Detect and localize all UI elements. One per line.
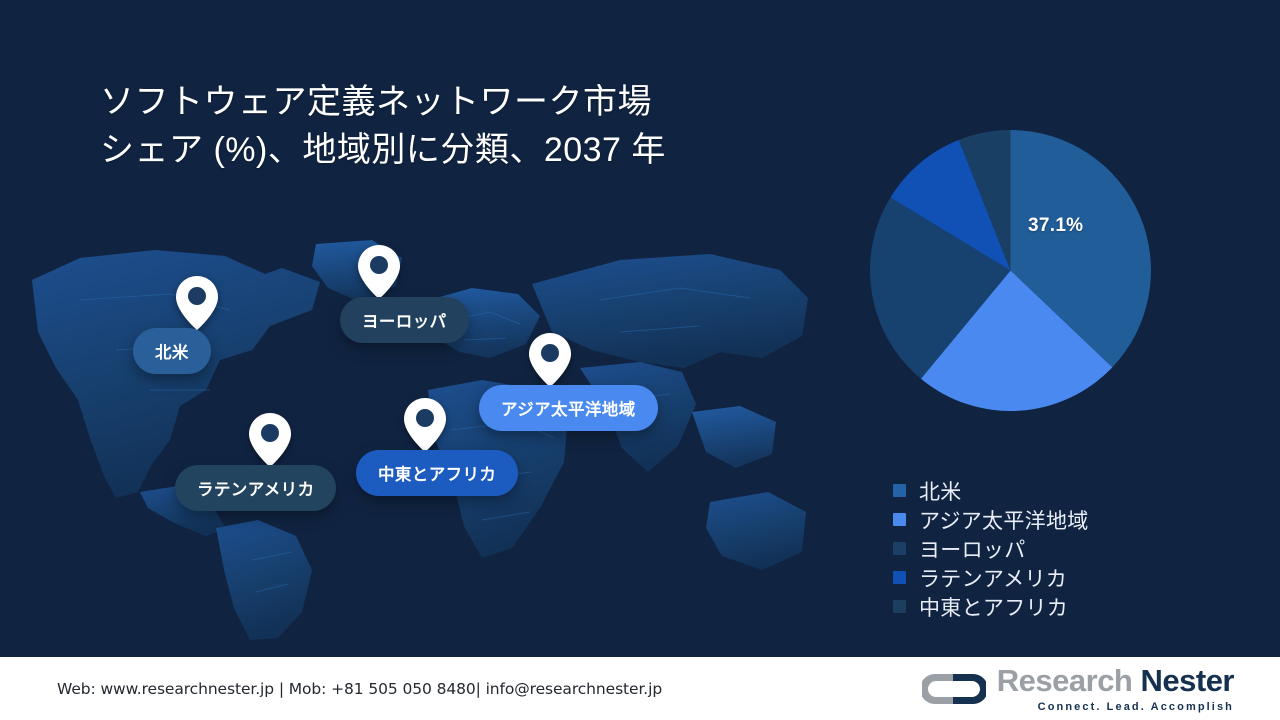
landmass-south-america (216, 520, 312, 640)
pie-chart: 37.1% (833, 93, 1188, 448)
landmass-southeast-asia (692, 406, 776, 468)
research-nester-logo: Research Nester Connect. Lead. Accomplis… (922, 665, 1234, 713)
legend-item-middle-east-africa[interactable]: 中東とアフリカ (893, 592, 1253, 621)
logo-word-nester: Nester (1141, 663, 1235, 698)
location-pin-icon (248, 412, 292, 468)
logo-wordmark: Research Nester (997, 665, 1234, 696)
legend-item-europe[interactable]: ヨーロッパ (893, 534, 1253, 563)
legend-swatch-icon (893, 513, 906, 526)
footer-contact-text: Web: www.researchnester.jp | Mob: +81 50… (57, 680, 662, 698)
chart-legend: 北米 アジア太平洋地域 ヨーロッパ ラテンアメリカ 中東とアフリカ (893, 476, 1253, 621)
map-label-text: 北米 (155, 344, 189, 362)
map-label-europe[interactable]: ヨーロッパ (340, 297, 469, 343)
page-title-line-2: シェア (%)、地域別に分類、2037 年 (100, 126, 780, 174)
map-label-text: ヨーロッパ (362, 313, 447, 331)
world-map: 北米 ヨーロッパ アジア太平洋地域 ラテンアメリカ (20, 240, 810, 640)
legend-swatch-icon (893, 542, 906, 555)
map-label-latin-america[interactable]: ラテンアメリカ (175, 465, 336, 511)
legend-item-asia-pacific[interactable]: アジア太平洋地域 (893, 505, 1253, 534)
page-title-line-1: ソフトウェア定義ネットワーク市場 (100, 78, 780, 126)
location-pin-icon (357, 244, 401, 300)
legend-label: アジア太平洋地域 (919, 505, 1089, 535)
legend-label: ヨーロッパ (919, 534, 1026, 564)
legend-label: 北米 (919, 476, 962, 506)
logo-tagline: Connect. Lead. Accomplish (997, 702, 1234, 713)
map-label-middle-east-africa[interactable]: 中東とアフリカ (356, 450, 518, 496)
logo-text: Research Nester Connect. Lead. Accomplis… (997, 665, 1234, 713)
map-label-north-america[interactable]: 北米 (133, 328, 211, 374)
location-pin-icon (175, 275, 219, 331)
map-label-text: アジア太平洋地域 (501, 401, 636, 419)
landmass-australia (706, 492, 806, 570)
legend-label: ラテンアメリカ (919, 563, 1067, 593)
logo-word-research: Research (997, 663, 1133, 698)
legend-item-latin-america[interactable]: ラテンアメリカ (893, 563, 1253, 592)
legend-label: 中東とアフリカ (919, 592, 1068, 622)
location-pin-icon (528, 332, 572, 388)
legend-swatch-icon (893, 571, 906, 584)
page-title: ソフトウェア定義ネットワーク市場 シェア (%)、地域別に分類、2037 年 (100, 78, 780, 175)
legend-swatch-icon (893, 484, 906, 497)
map-label-text: 中東とアフリカ (378, 466, 496, 484)
pie-slice-label-north-america: 37.1% (1028, 215, 1083, 237)
legend-swatch-icon (893, 600, 906, 613)
logo-mark-icon (922, 670, 986, 708)
landmass-asia (532, 254, 808, 368)
pie-chart-slices (870, 130, 1151, 411)
map-label-asia-pacific[interactable]: アジア太平洋地域 (479, 385, 658, 431)
legend-item-north-america[interactable]: 北米 (893, 476, 1253, 505)
map-label-text: ラテンアメリカ (197, 481, 314, 499)
location-pin-icon (403, 397, 447, 453)
footer-bar: Web: www.researchnester.jp | Mob: +81 50… (0, 657, 1280, 720)
